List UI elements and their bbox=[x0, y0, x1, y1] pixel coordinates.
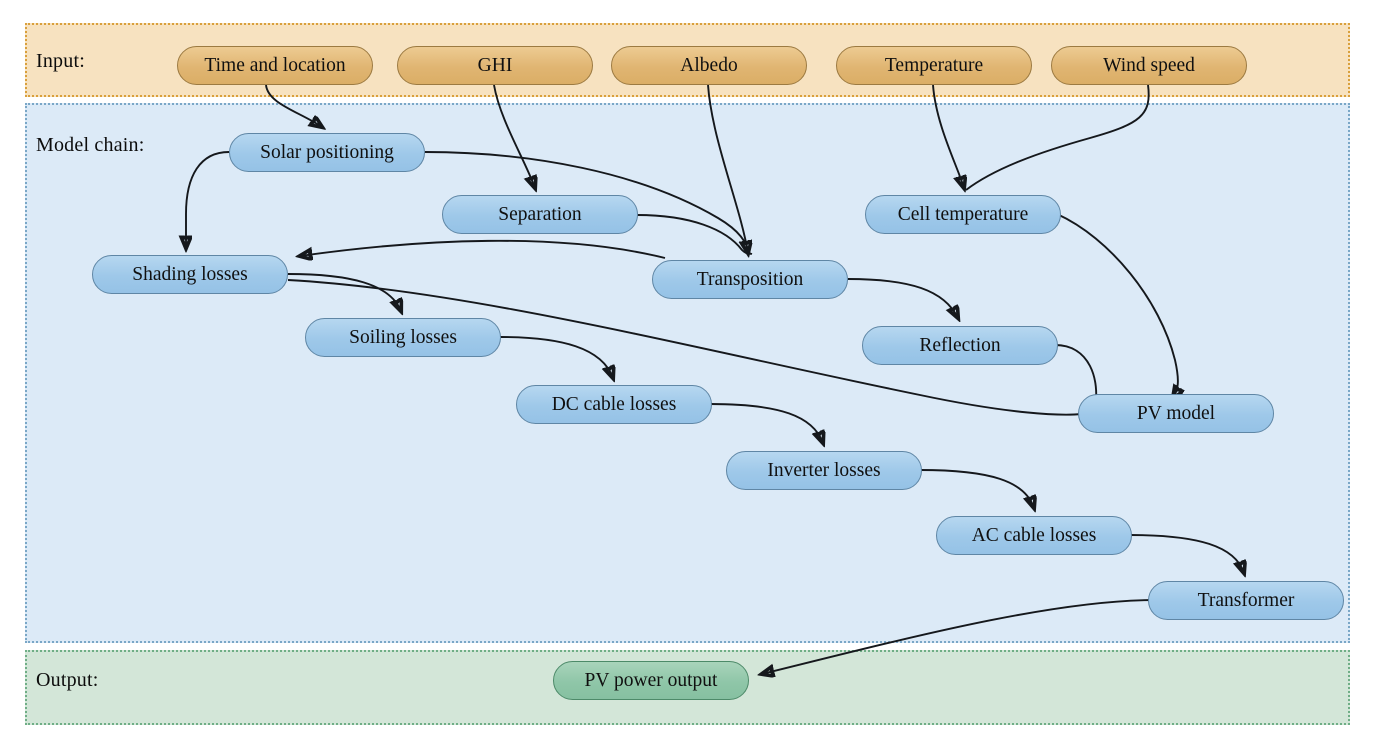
node-temperature[interactable]: Temperature bbox=[836, 46, 1032, 85]
band-model-chain bbox=[25, 103, 1350, 643]
node-wind-speed[interactable]: Wind speed bbox=[1051, 46, 1247, 85]
node-cell-temperature[interactable]: Cell temperature bbox=[865, 195, 1061, 234]
node-pv-model[interactable]: PV model bbox=[1078, 394, 1274, 433]
node-ac-cable-losses[interactable]: AC cable losses bbox=[936, 516, 1132, 555]
node-inverter-losses[interactable]: Inverter losses bbox=[726, 451, 922, 490]
node-pv-power-output[interactable]: PV power output bbox=[553, 661, 749, 700]
node-solar-positioning[interactable]: Solar positioning bbox=[229, 133, 425, 172]
node-separation[interactable]: Separation bbox=[442, 195, 638, 234]
node-dc-cable-losses[interactable]: DC cable losses bbox=[516, 385, 712, 424]
node-transposition[interactable]: Transposition bbox=[652, 260, 848, 299]
node-ghi[interactable]: GHI bbox=[397, 46, 593, 85]
node-reflection[interactable]: Reflection bbox=[862, 326, 1058, 365]
node-transformer[interactable]: Transformer bbox=[1148, 581, 1344, 620]
node-time-and-location[interactable]: Time and location bbox=[177, 46, 373, 85]
node-soiling-losses[interactable]: Soiling losses bbox=[305, 318, 501, 357]
band-label-model-chain: Model chain: bbox=[36, 134, 144, 157]
band-label-output: Output: bbox=[36, 669, 99, 692]
node-shading-losses[interactable]: Shading losses bbox=[92, 255, 288, 294]
diagram-canvas: Input: Model chain: Output: bbox=[0, 0, 1379, 743]
node-albedo[interactable]: Albedo bbox=[611, 46, 807, 85]
band-label-input: Input: bbox=[36, 50, 85, 73]
